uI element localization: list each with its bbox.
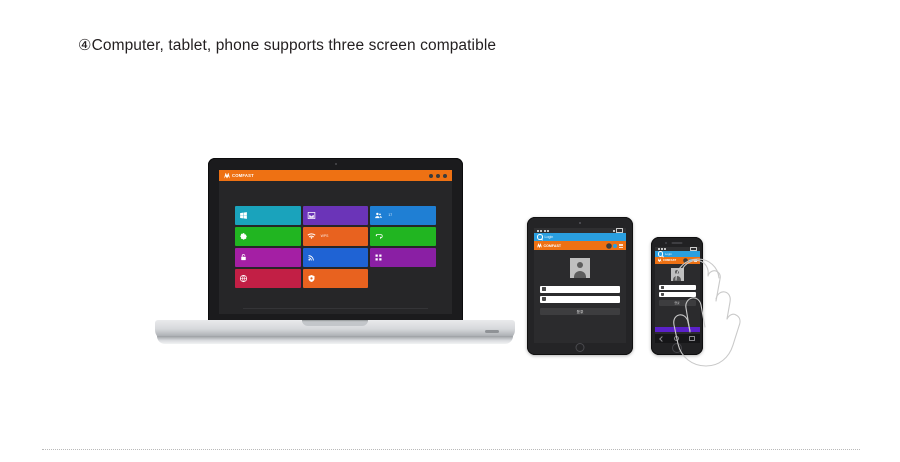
avatar bbox=[570, 258, 590, 278]
tile-users[interactable]: 17 bbox=[370, 206, 436, 225]
globe-icon bbox=[239, 274, 248, 283]
avatar-head bbox=[577, 262, 583, 268]
home-icon[interactable] bbox=[674, 336, 680, 342]
password-field[interactable] bbox=[659, 292, 696, 297]
laptop-device: COMFAST bbox=[155, 158, 515, 353]
user-icon bbox=[661, 286, 664, 289]
brand-name: COMFAST bbox=[663, 259, 676, 262]
laptop-lid: COMFAST bbox=[208, 158, 463, 325]
lock-icon bbox=[661, 293, 664, 296]
globe-icon[interactable] bbox=[689, 259, 692, 262]
signal-icon bbox=[307, 253, 316, 262]
page-title: ④Computer, tablet, phone supports three … bbox=[78, 36, 496, 55]
laptop-port bbox=[485, 330, 499, 333]
avatar-body bbox=[673, 276, 681, 281]
brand-logo: COMFAST bbox=[224, 173, 254, 179]
status-left-icons bbox=[658, 248, 667, 250]
lock-icon bbox=[542, 297, 546, 301]
shield-icon bbox=[307, 274, 316, 283]
laptop-topbar: COMFAST bbox=[219, 170, 452, 181]
search-icon bbox=[658, 251, 664, 257]
tile-label: 17 bbox=[388, 213, 392, 217]
status-right-icons bbox=[690, 247, 697, 251]
accent-bar bbox=[655, 327, 700, 332]
gear-icon[interactable] bbox=[607, 244, 611, 248]
battery-icon bbox=[616, 228, 623, 233]
menu-icon[interactable] bbox=[694, 259, 697, 262]
search-icon bbox=[537, 234, 543, 240]
bottom-divider bbox=[42, 449, 860, 451]
front-camera-icon bbox=[579, 222, 581, 224]
tile-refresh[interactable] bbox=[370, 227, 436, 246]
heading-text: Computer, tablet, phone supports three s… bbox=[92, 37, 497, 54]
globe-icon[interactable] bbox=[613, 244, 617, 248]
phone-device: Login COMFAST bbox=[651, 237, 703, 355]
gear-icon bbox=[239, 232, 248, 241]
lock-icon bbox=[239, 253, 248, 262]
battery-icon bbox=[690, 247, 697, 251]
tile-label: WPS bbox=[321, 234, 329, 238]
menu-icon[interactable] bbox=[619, 244, 623, 248]
login-form: 登录 bbox=[534, 250, 626, 315]
login-button[interactable]: 登录 bbox=[659, 300, 696, 306]
help-icon[interactable] bbox=[436, 174, 440, 178]
brand-mark-icon bbox=[658, 258, 662, 262]
recent-icon[interactable] bbox=[689, 336, 695, 342]
tile-windows[interactable] bbox=[235, 206, 301, 225]
username-field[interactable] bbox=[540, 286, 620, 293]
avatar-head bbox=[675, 270, 679, 274]
slide-page: ④Computer, tablet, phone supports three … bbox=[0, 0, 900, 462]
tablet-body: Login COMFAST bbox=[527, 217, 633, 355]
username-field[interactable] bbox=[659, 285, 696, 290]
brand-mark-icon bbox=[537, 243, 542, 248]
home-button[interactable] bbox=[576, 343, 585, 352]
gear-icon[interactable] bbox=[684, 259, 687, 262]
tile-signal[interactable] bbox=[303, 248, 369, 267]
earpiece-speaker bbox=[672, 242, 683, 244]
heading-marker: ④ bbox=[78, 37, 92, 54]
app-header-icons bbox=[607, 244, 623, 248]
tile-inbox[interactable] bbox=[303, 206, 369, 225]
user-icon[interactable] bbox=[429, 174, 433, 178]
app-header: COMFAST bbox=[534, 241, 626, 250]
password-field[interactable] bbox=[540, 296, 620, 303]
user-icon bbox=[542, 287, 546, 291]
tile-security[interactable] bbox=[235, 248, 301, 267]
power-icon[interactable] bbox=[443, 174, 447, 178]
avatar-body bbox=[574, 271, 586, 278]
address-bar-text: Login bbox=[665, 252, 672, 256]
tablet-screen: Login COMFAST bbox=[534, 228, 626, 343]
tile-settings[interactable] bbox=[235, 227, 301, 246]
topbar-icons bbox=[429, 174, 447, 178]
address-bar-text: Login bbox=[545, 235, 554, 239]
status-right-icons bbox=[613, 228, 623, 233]
refresh-icon bbox=[374, 232, 383, 241]
android-navbar bbox=[655, 334, 700, 343]
tile-network[interactable] bbox=[235, 269, 301, 288]
tile-apps[interactable] bbox=[370, 248, 436, 267]
footer-divider bbox=[243, 308, 428, 309]
app-header-icons bbox=[684, 259, 697, 262]
laptop-screen: COMFAST bbox=[219, 170, 452, 314]
login-form: 登录 bbox=[655, 264, 700, 306]
brand-logo: COMFAST bbox=[537, 243, 561, 248]
laptop-foot bbox=[157, 336, 513, 344]
status-left-icons bbox=[537, 230, 549, 232]
tile-firewall[interactable] bbox=[303, 269, 369, 288]
grid-icon bbox=[374, 253, 383, 262]
browser-address-bar[interactable]: Login bbox=[534, 233, 626, 241]
tile-wps[interactable]: WPS bbox=[303, 227, 369, 246]
home-button[interactable] bbox=[672, 343, 682, 353]
phone-screen: Login COMFAST bbox=[655, 247, 700, 343]
back-icon[interactable] bbox=[659, 336, 665, 342]
users-icon bbox=[374, 211, 383, 220]
tablet-device: Login COMFAST bbox=[527, 217, 633, 355]
brand-mark-icon bbox=[224, 173, 230, 179]
webcam-icon bbox=[335, 163, 337, 165]
brand-name: COMFAST bbox=[232, 173, 254, 178]
phone-body: Login COMFAST bbox=[651, 237, 703, 355]
wifi-icon bbox=[307, 232, 316, 241]
brand-name: COMFAST bbox=[544, 244, 562, 248]
brand-logo: COMFAST bbox=[658, 258, 677, 262]
avatar bbox=[671, 268, 684, 281]
windows-icon bbox=[239, 211, 248, 220]
front-camera-icon bbox=[665, 242, 667, 244]
login-button[interactable]: 登录 bbox=[540, 308, 620, 316]
tile-grid: 17 WPS bbox=[235, 206, 436, 288]
inbox-icon bbox=[307, 211, 316, 220]
